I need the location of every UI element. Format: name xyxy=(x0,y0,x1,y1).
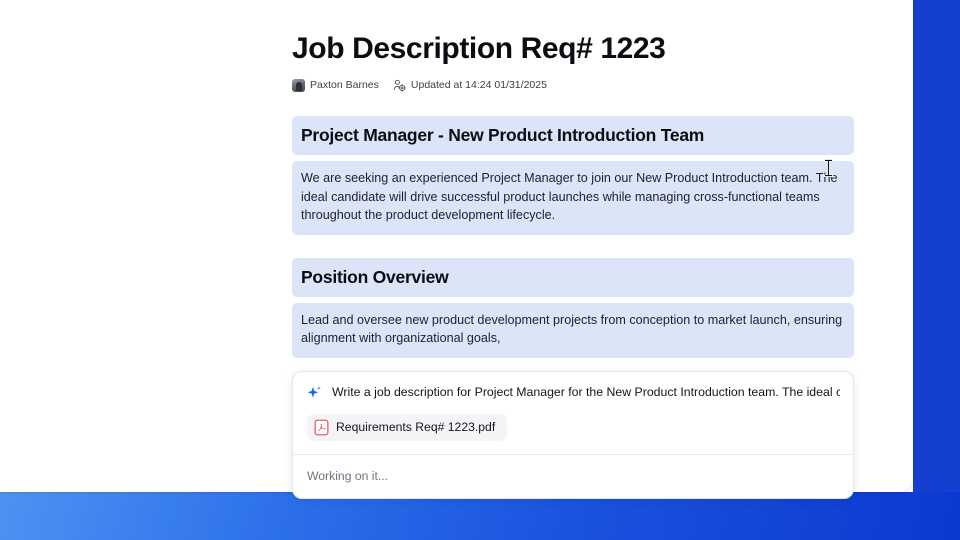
decorative-bottom-blue-band xyxy=(0,492,960,540)
section-heading-2: Position Overview xyxy=(292,258,854,297)
ai-prompt-row: Write a job description for Project Mana… xyxy=(306,384,840,402)
meta-updated: Updated at 14:24 01/31/2025 xyxy=(393,78,547,92)
decorative-right-blue-panel xyxy=(913,0,960,494)
page-title: Job Description Req# 1223 xyxy=(292,0,854,68)
section-body-2: Lead and oversee new product development… xyxy=(292,303,854,358)
updated-timestamp: Updated at 14:24 01/31/2025 xyxy=(411,78,547,92)
ai-sparkle-icon xyxy=(306,385,323,402)
ai-card-prompt-area: Write a job description for Project Mana… xyxy=(293,372,853,454)
meta-author: Paxton Barnes xyxy=(292,78,379,92)
attachment-name: Requirements Req# 1223.pdf xyxy=(336,419,495,435)
ai-status-text: Working on it... xyxy=(293,455,853,498)
avatar-icon xyxy=(292,79,305,92)
pdf-file-icon xyxy=(314,419,329,436)
ai-prompt-text: Write a job description for Project Mana… xyxy=(332,384,840,400)
ai-assistant-card[interactable]: Write a job description for Project Mana… xyxy=(292,371,854,499)
section-heading-1: Project Manager - New Product Introducti… xyxy=(292,116,854,155)
document-meta-row: Paxton Barnes Updated at 14:24 01/31/202… xyxy=(292,77,854,93)
document-content: Job Description Req# 1223 Paxton Barnes xyxy=(292,0,854,499)
section-body-1: We are seeking an experienced Project Ma… xyxy=(292,161,854,235)
attachment-chip[interactable]: Requirements Req# 1223.pdf xyxy=(307,414,507,441)
app-root: Job Description Req# 1223 Paxton Barnes xyxy=(0,0,960,540)
author-name: Paxton Barnes xyxy=(310,78,379,92)
person-gear-icon xyxy=(393,79,406,92)
